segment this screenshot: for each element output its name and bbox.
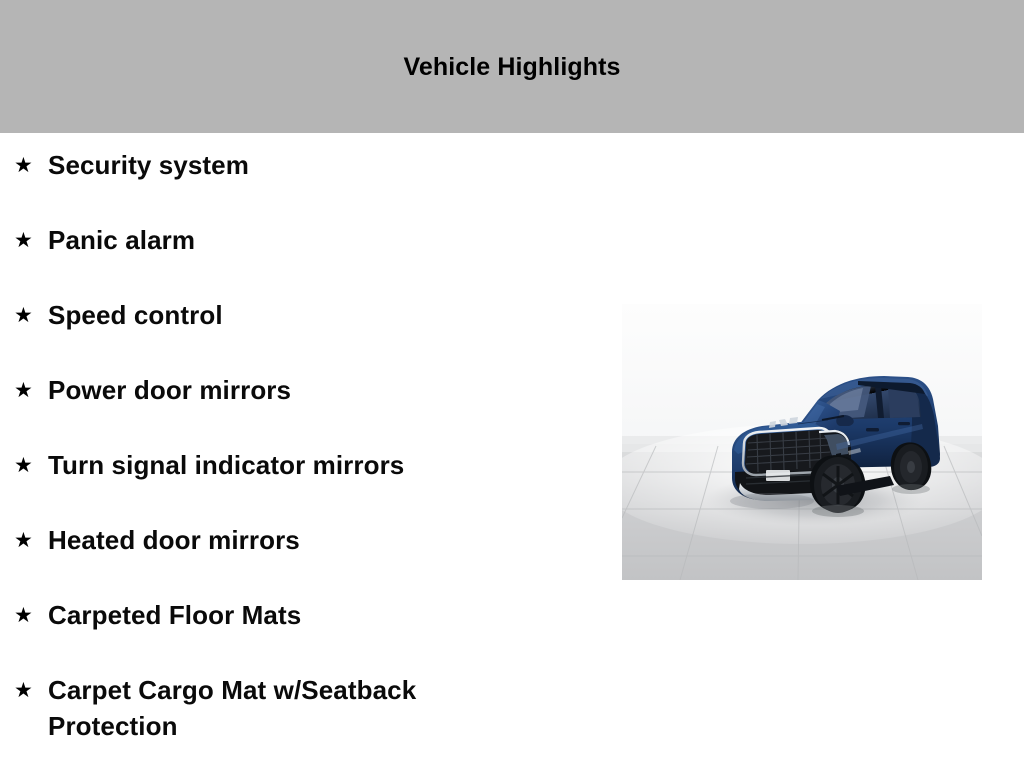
list-item-label: Power door mirrors bbox=[48, 369, 600, 408]
star-bullet-icon: ★ bbox=[14, 605, 33, 626]
star-bullet-icon: ★ bbox=[14, 155, 33, 176]
vehicle-photo bbox=[622, 304, 982, 580]
list-item: ★ Power door mirrors bbox=[0, 369, 600, 444]
star-bullet-icon: ★ bbox=[14, 380, 33, 401]
list-item: ★ Speed control bbox=[0, 294, 600, 369]
star-bullet-icon: ★ bbox=[14, 680, 33, 701]
star-bullet-icon: ★ bbox=[14, 530, 33, 551]
star-bullet-icon: ★ bbox=[14, 455, 33, 476]
page-title: Vehicle Highlights bbox=[403, 55, 620, 80]
list-item: ★ Panic alarm bbox=[0, 219, 600, 294]
vehicle-highlights-list: ★ Security system ★ Panic alarm ★ Speed … bbox=[0, 144, 600, 744]
list-item: ★ Carpet Cargo Mat w/Seatback Protection bbox=[0, 669, 600, 744]
star-bullet-icon: ★ bbox=[14, 305, 33, 326]
star-bullet-icon: ★ bbox=[14, 230, 33, 251]
list-item: ★ Carpeted Floor Mats bbox=[0, 594, 600, 669]
list-item-label: Heated door mirrors bbox=[48, 519, 600, 558]
list-item: ★ Heated door mirrors bbox=[0, 519, 600, 594]
vehicle-illustration bbox=[622, 304, 982, 580]
list-item-label: Carpet Cargo Mat w/Seatback Protection bbox=[48, 669, 600, 744]
list-item-label: Carpeted Floor Mats bbox=[48, 594, 600, 633]
list-item-label: Panic alarm bbox=[48, 219, 600, 258]
header-bar: Vehicle Highlights bbox=[0, 0, 1024, 133]
list-item: ★ Turn signal indicator mirrors bbox=[0, 444, 600, 519]
list-item-label: Speed control bbox=[48, 294, 600, 333]
list-item-label: Security system bbox=[48, 144, 600, 183]
list-item-label: Turn signal indicator mirrors bbox=[48, 444, 600, 483]
list-item: ★ Security system bbox=[0, 144, 600, 219]
